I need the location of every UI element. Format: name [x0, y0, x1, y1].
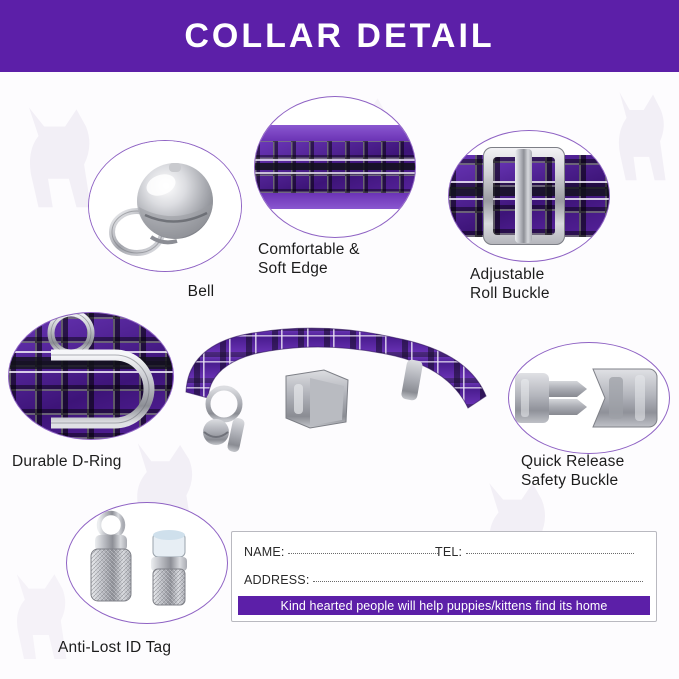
id-field-address-label: ADDRESS: — [244, 573, 310, 587]
callout-circle-d-ring — [8, 312, 174, 440]
id-field-address: ADDRESS: — [244, 573, 643, 587]
page-title: COLLAR DETAIL — [184, 17, 494, 56]
callout-circle-id-tag — [66, 502, 228, 624]
callout-circle-bell — [88, 140, 242, 272]
id-field-name: NAME: — [244, 545, 438, 559]
id-field-tel-label: TEL: — [435, 545, 462, 559]
id-field-address-line[interactable] — [313, 581, 643, 582]
id-field-tel-line[interactable] — [466, 553, 634, 554]
callout-label-soft-edge: Comfortable & Soft Edge — [258, 240, 448, 278]
webbing-edge-icon — [255, 125, 415, 209]
bell-icon — [89, 141, 241, 271]
callout-label-bell: Bell — [141, 282, 261, 301]
dog-silhouette-icon — [600, 80, 678, 190]
id-field-name-line[interactable] — [288, 553, 438, 554]
callout-circle-roll-buckle — [448, 130, 610, 262]
callout-label-quick-release: Quick Release Safety Buckle — [521, 452, 679, 490]
header-banner: COLLAR DETAIL — [0, 0, 679, 72]
callout-circle-soft-edge — [254, 96, 416, 238]
capsule-id-tag-icon — [67, 503, 227, 623]
id-field-name-label: NAME: — [244, 545, 285, 559]
id-field-tel: TEL: — [435, 545, 634, 559]
collar-product-image — [168, 300, 508, 465]
id-card-banner: Kind hearted people will help puppies/ki… — [238, 596, 650, 615]
callout-label-roll-buckle: Adjustable Roll Buckle — [470, 265, 670, 303]
id-card-banner-text: Kind hearted people will help puppies/ki… — [281, 599, 608, 613]
id-tag-card: NAME: TEL: ADDRESS: Kind hearted people … — [231, 531, 657, 622]
d-ring-icon — [9, 313, 173, 439]
collar-detail-infographic: COLLAR DETAIL — [0, 0, 679, 679]
callout-label-id-tag: Anti-Lost ID Tag — [58, 638, 278, 657]
side-release-buckle-icon — [509, 343, 669, 453]
callout-circle-quick-release — [508, 342, 670, 454]
